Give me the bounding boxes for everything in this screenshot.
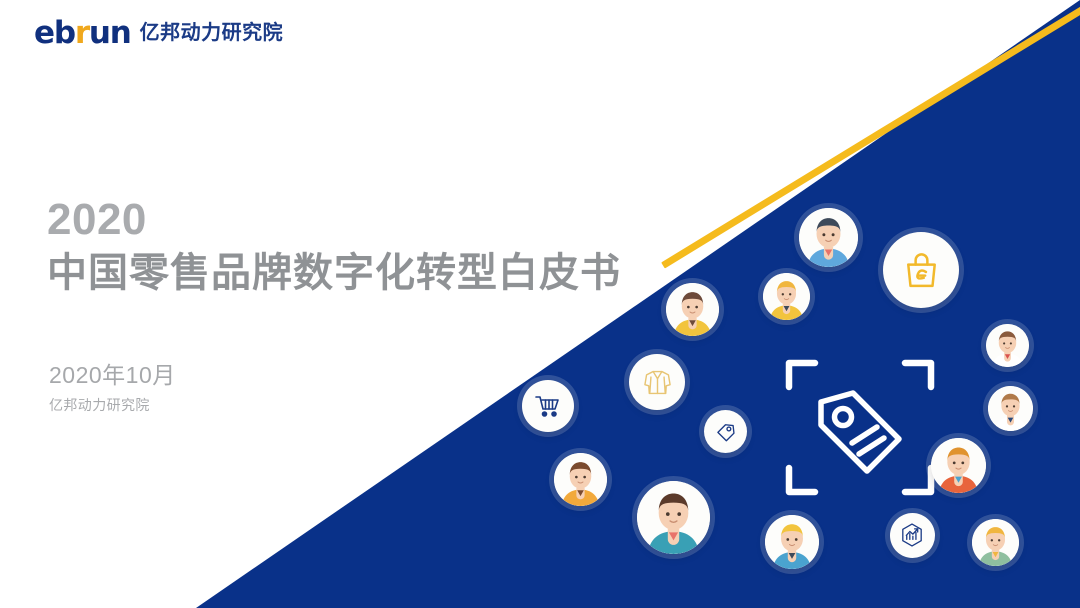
logo-word-part2: un — [89, 15, 131, 51]
title-year: 2020 — [47, 196, 621, 244]
publish-date: 2020年10月 — [49, 360, 176, 391]
page-title: 2020 中国零售品牌数字化转型白皮书 — [47, 196, 621, 296]
price-tag-scanner — [785, 355, 935, 500]
avatar-man-yellow-shirt — [763, 273, 810, 320]
avatar-man-hat-beard — [931, 438, 986, 493]
avatar-man-glasses-blue-shirt — [799, 208, 858, 267]
viewfinder-brackets — [789, 363, 931, 492]
shopping-cart-icon — [522, 380, 574, 432]
price-tag-icon — [821, 393, 899, 471]
analytics-chart-icon — [890, 513, 935, 558]
avatar-woman-blonde-glasses — [765, 515, 819, 569]
title-main: 中国零售品牌数字化转型白皮书 — [47, 250, 621, 296]
avatar-woman-scarf-teal — [637, 481, 710, 554]
clothing-jacket-icon — [629, 354, 685, 410]
avatar-woman-blonde-green — [972, 519, 1019, 566]
logo-word-accent: r — [75, 15, 89, 51]
avatar-woman-brown-hair-yellow — [666, 283, 719, 336]
logo-word-part1: eb — [34, 15, 75, 51]
avatar-man-dark-tie — [988, 386, 1033, 431]
brand-logo: ebrun 亿邦动力研究院 — [34, 18, 283, 49]
avatar-boy-orange-shirt — [554, 453, 607, 506]
shopping-bag-e-icon — [883, 232, 959, 308]
avatar-man-red-tie — [986, 324, 1029, 367]
publisher-name: 亿邦动力研究院 — [49, 396, 176, 414]
cover-meta: 2020年10月 亿邦动力研究院 — [49, 360, 176, 414]
ebrun-logo: ebrun — [34, 18, 131, 49]
report-cover: ebrun 亿邦动力研究院 2020 中国零售品牌数字化转型白皮书 2020年1… — [0, 0, 1080, 608]
logo-chinese-name: 亿邦动力研究院 — [140, 23, 284, 45]
price-tag-small-icon — [704, 410, 747, 453]
